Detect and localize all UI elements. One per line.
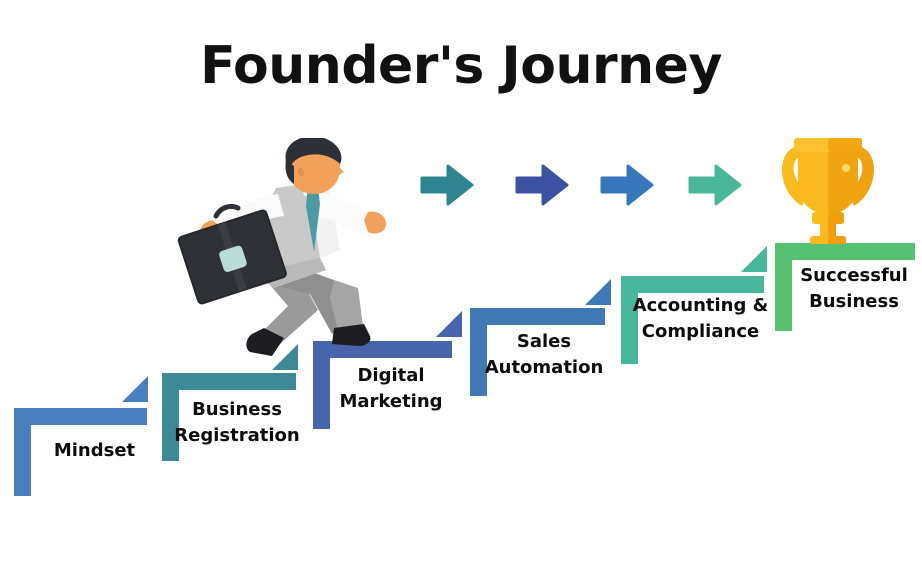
running-businessman-illustration [168,138,398,363]
step-top-bar [470,308,605,325]
step-label: Successful Business [789,263,919,315]
step-label: Digital Marketing [325,363,457,415]
step-label: Business Registration [172,397,302,449]
infographic-canvas: Founder's Journey Mindset Business Regis… [0,0,922,571]
step-top-bar [775,243,915,260]
riser-triangle [436,311,462,337]
riser-triangle [585,279,611,305]
progress-arrow-3 [600,164,654,206]
step-mindset[interactable]: Mindset [14,408,147,496]
step-accounting-compliance[interactable]: Accounting & Compliance [621,276,764,364]
step-label: Mindset [32,438,157,464]
progress-arrow-4 [688,164,742,206]
step-label: Accounting & Compliance [631,293,770,345]
trophy-icon [772,128,884,244]
step-top-bar [14,408,147,425]
step-top-bar [162,373,296,390]
step-top-bar [621,276,764,293]
progress-arrow-2 [515,164,569,206]
step-sales-automation[interactable]: Sales Automation [470,308,605,396]
step-business-registration[interactable]: Business Registration [162,373,296,461]
step-left-bar [14,408,31,496]
step-successful-business[interactable]: Successful Business [775,243,915,331]
riser-triangle [741,246,767,272]
riser-triangle [122,376,148,402]
progress-arrow-1 [420,164,474,206]
step-label: Sales Automation [478,329,610,381]
page-title: Founder's Journey [0,36,922,96]
